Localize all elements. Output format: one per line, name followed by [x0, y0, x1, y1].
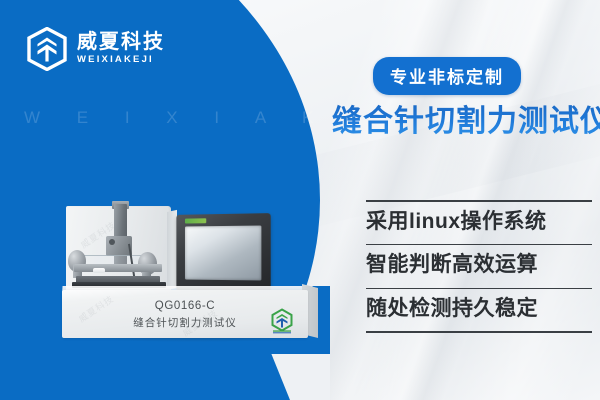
hexagon-arrow-logo-icon	[26, 27, 68, 71]
touchscreen-brand-label	[185, 218, 206, 223]
brand-name-cn: 威夏科技	[77, 32, 165, 53]
brand-logo: 威夏科技 WEIXIAKEJI	[26, 27, 165, 71]
fixture-rail	[74, 264, 162, 272]
fixture-specimen	[93, 268, 105, 273]
feature-item-3: 随处检测持久稳定	[366, 289, 592, 331]
page-title: 缝合针切割力测试仪	[332, 96, 600, 140]
fixture-clamp-knob-icon	[109, 239, 115, 245]
company-emblem-icon	[270, 308, 294, 334]
feature-item-1: 采用linux操作系统	[366, 202, 592, 244]
custom-service-badge: 专业非标定制	[373, 57, 521, 95]
product-machine-image: 威夏科技 威夏科技	[62, 198, 320, 358]
feature-separator-bottom	[366, 331, 592, 333]
background-watermark-text: W E I X I A K E J I	[24, 108, 324, 128]
brand-name-en: WEIXIAKEJI	[77, 54, 165, 66]
promo-banner: W E I X I A K E J I 威夏科技 WEIXIAKEJI 专业非标…	[0, 0, 600, 400]
feature-item-2: 智能判断高效运算	[366, 245, 592, 287]
feature-list: 采用linux操作系统 智能判断高效运算 随处检测持久稳定	[366, 200, 592, 333]
brand-text: 威夏科技 WEIXIAKEJI	[77, 32, 165, 66]
touchscreen-display[interactable]	[185, 226, 261, 281]
touchscreen-hmi-icon[interactable]	[176, 213, 270, 293]
